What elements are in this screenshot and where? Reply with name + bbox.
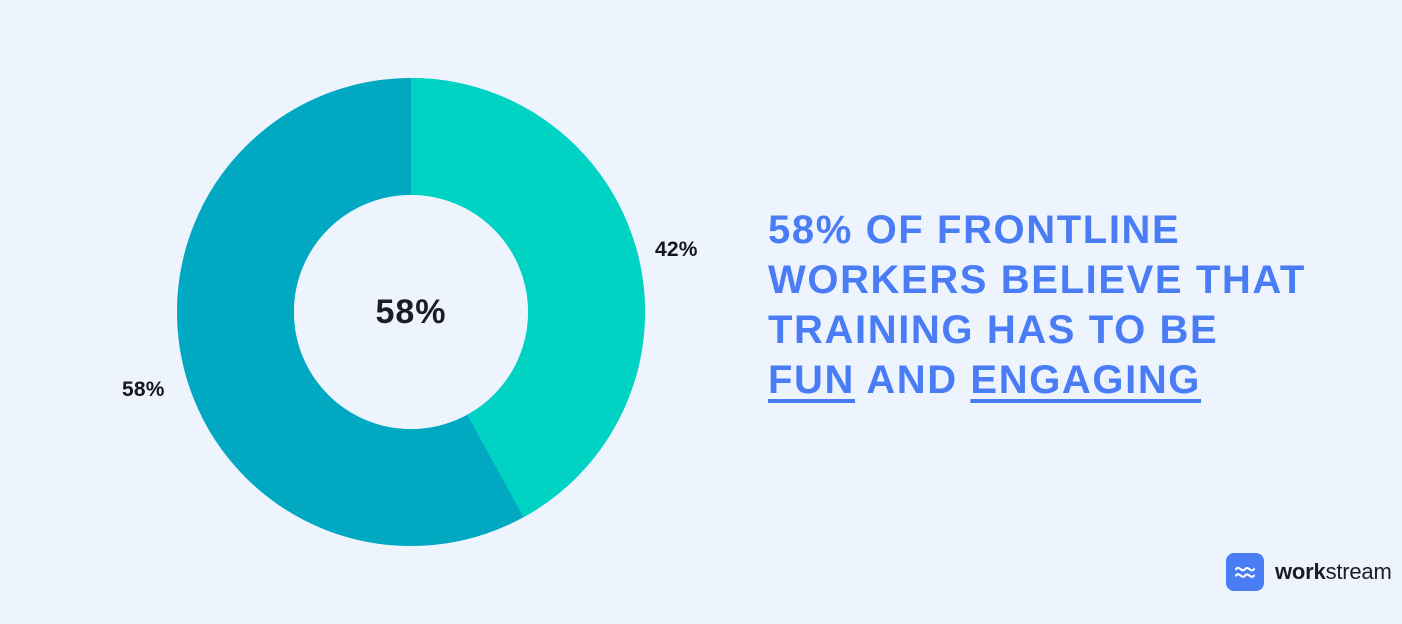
double-wave-icon	[1226, 553, 1264, 591]
infographic-canvas: 58% 42% 58% 58% of frontline workers bel…	[0, 0, 1402, 624]
donut-chart: 58% 42% 58%	[0, 0, 740, 624]
slice-label-major: 58%	[122, 378, 165, 402]
headline-part-1: 58% of frontline workers believe that tr…	[768, 208, 1306, 352]
logo-wordmark: workstream	[1275, 559, 1392, 585]
headline: 58% of frontline workers believe that tr…	[768, 205, 1308, 405]
headline-part-2: and	[855, 358, 970, 402]
donut-svg	[177, 78, 645, 546]
workstream-logo: workstream	[1226, 553, 1392, 591]
headline-emphasis-fun: fun	[768, 358, 855, 402]
logo-word-regular: stream	[1326, 559, 1392, 584]
slice-label-minor: 42%	[655, 238, 698, 262]
donut-graphic: 58%	[177, 78, 645, 546]
logo-word-bold: work	[1275, 559, 1326, 584]
donut-hole	[294, 195, 528, 429]
headline-emphasis-engaging: engaging	[970, 358, 1201, 402]
